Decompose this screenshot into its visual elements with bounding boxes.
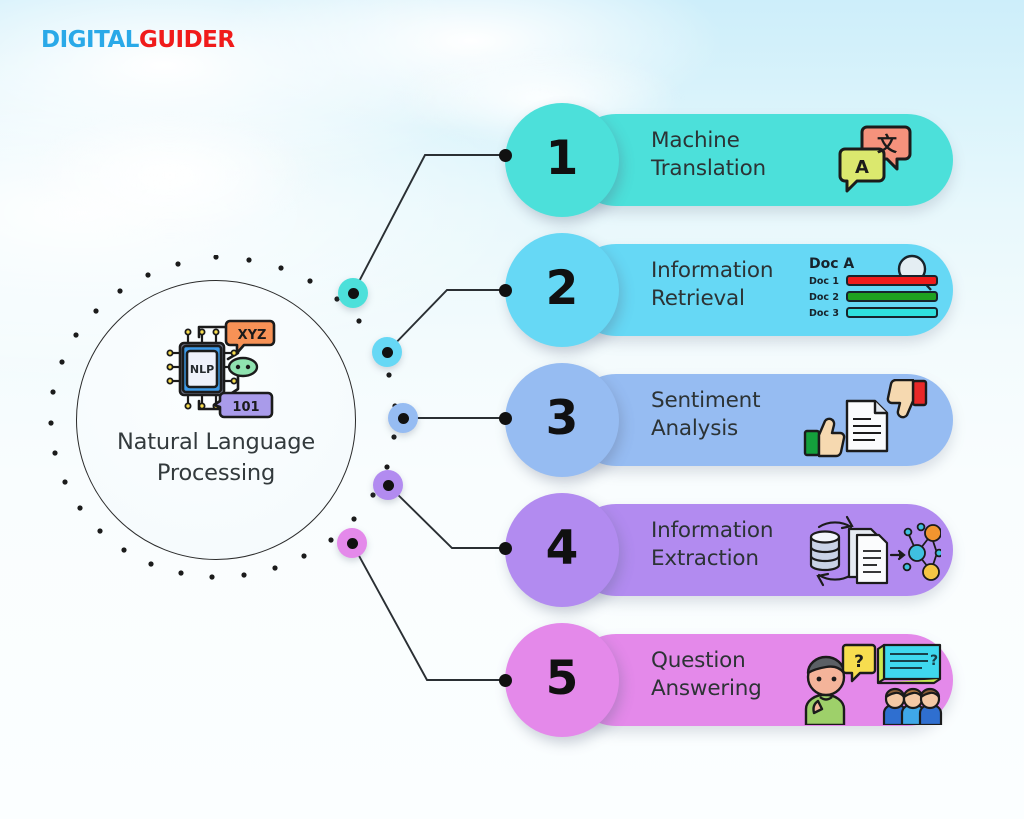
nlp-chip-icon: NLP XYZ 101 <box>166 315 276 425</box>
connector-dot-5[interactable] <box>337 528 367 558</box>
row-number-bubble-5[interactable]: 5 <box>505 623 619 737</box>
doc-row-label-2: Doc 2 <box>809 292 839 303</box>
row-title-1: Machine Translation <box>651 127 841 183</box>
thumbs-up-down-document-icon <box>803 379 929 461</box>
connector-dot-1[interactable] <box>338 278 368 308</box>
row-number-5: 5 <box>546 655 579 705</box>
document-search-icon: Doc A Doc 1 Doc 2 Doc 3 <box>807 251 939 323</box>
connector-end-dot-2 <box>499 284 512 297</box>
connector-dot-2[interactable] <box>372 337 402 367</box>
connector-end-dot-5 <box>499 674 512 687</box>
xyz-bubble-label: XYZ <box>238 328 267 343</box>
row-number-bubble-2[interactable]: 2 <box>505 233 619 347</box>
hub-label-line2: Processing <box>76 458 356 489</box>
row-number-bubble-3[interactable]: 3 <box>505 363 619 477</box>
row-number-bubble-1[interactable]: 1 <box>505 103 619 217</box>
translation-bubbles-icon: 文 A <box>835 119 915 199</box>
row-title-line1: Machine <box>651 127 841 155</box>
question-mark-bubble: ? <box>854 652 864 672</box>
connector-end-dot-4 <box>499 542 512 555</box>
row-title-line2: Translation <box>651 155 841 183</box>
hub-label-line1: Natural Language <box>76 427 356 458</box>
connector-dot-3[interactable] <box>388 403 418 433</box>
chip-label: NLP <box>190 363 214 376</box>
question-answering-people-icon: ? ? <box>798 637 943 725</box>
hub-label: Natural Language Processing <box>76 427 356 489</box>
row-number-2: 2 <box>546 265 579 315</box>
translation-icon-back-label: 文 <box>877 132 898 156</box>
doc-row-label-1: Doc 1 <box>809 276 839 287</box>
doc-search-title: Doc A <box>809 256 854 272</box>
database-documents-network-icon <box>805 509 941 591</box>
connector-dot-4[interactable] <box>373 470 403 500</box>
row-number-3: 3 <box>546 395 579 445</box>
connector-end-dot-1 <box>499 149 512 162</box>
board-question-mark: ? <box>930 653 938 669</box>
connector-end-dot-3 <box>499 412 512 425</box>
binary-bubble-label: 101 <box>232 400 259 415</box>
row-number-bubble-4[interactable]: 4 <box>505 493 619 607</box>
row-number-1: 1 <box>546 135 579 185</box>
translation-icon-front-label: A <box>855 157 869 178</box>
row-number-4: 4 <box>546 525 579 575</box>
doc-row-label-3: Doc 3 <box>809 308 839 319</box>
